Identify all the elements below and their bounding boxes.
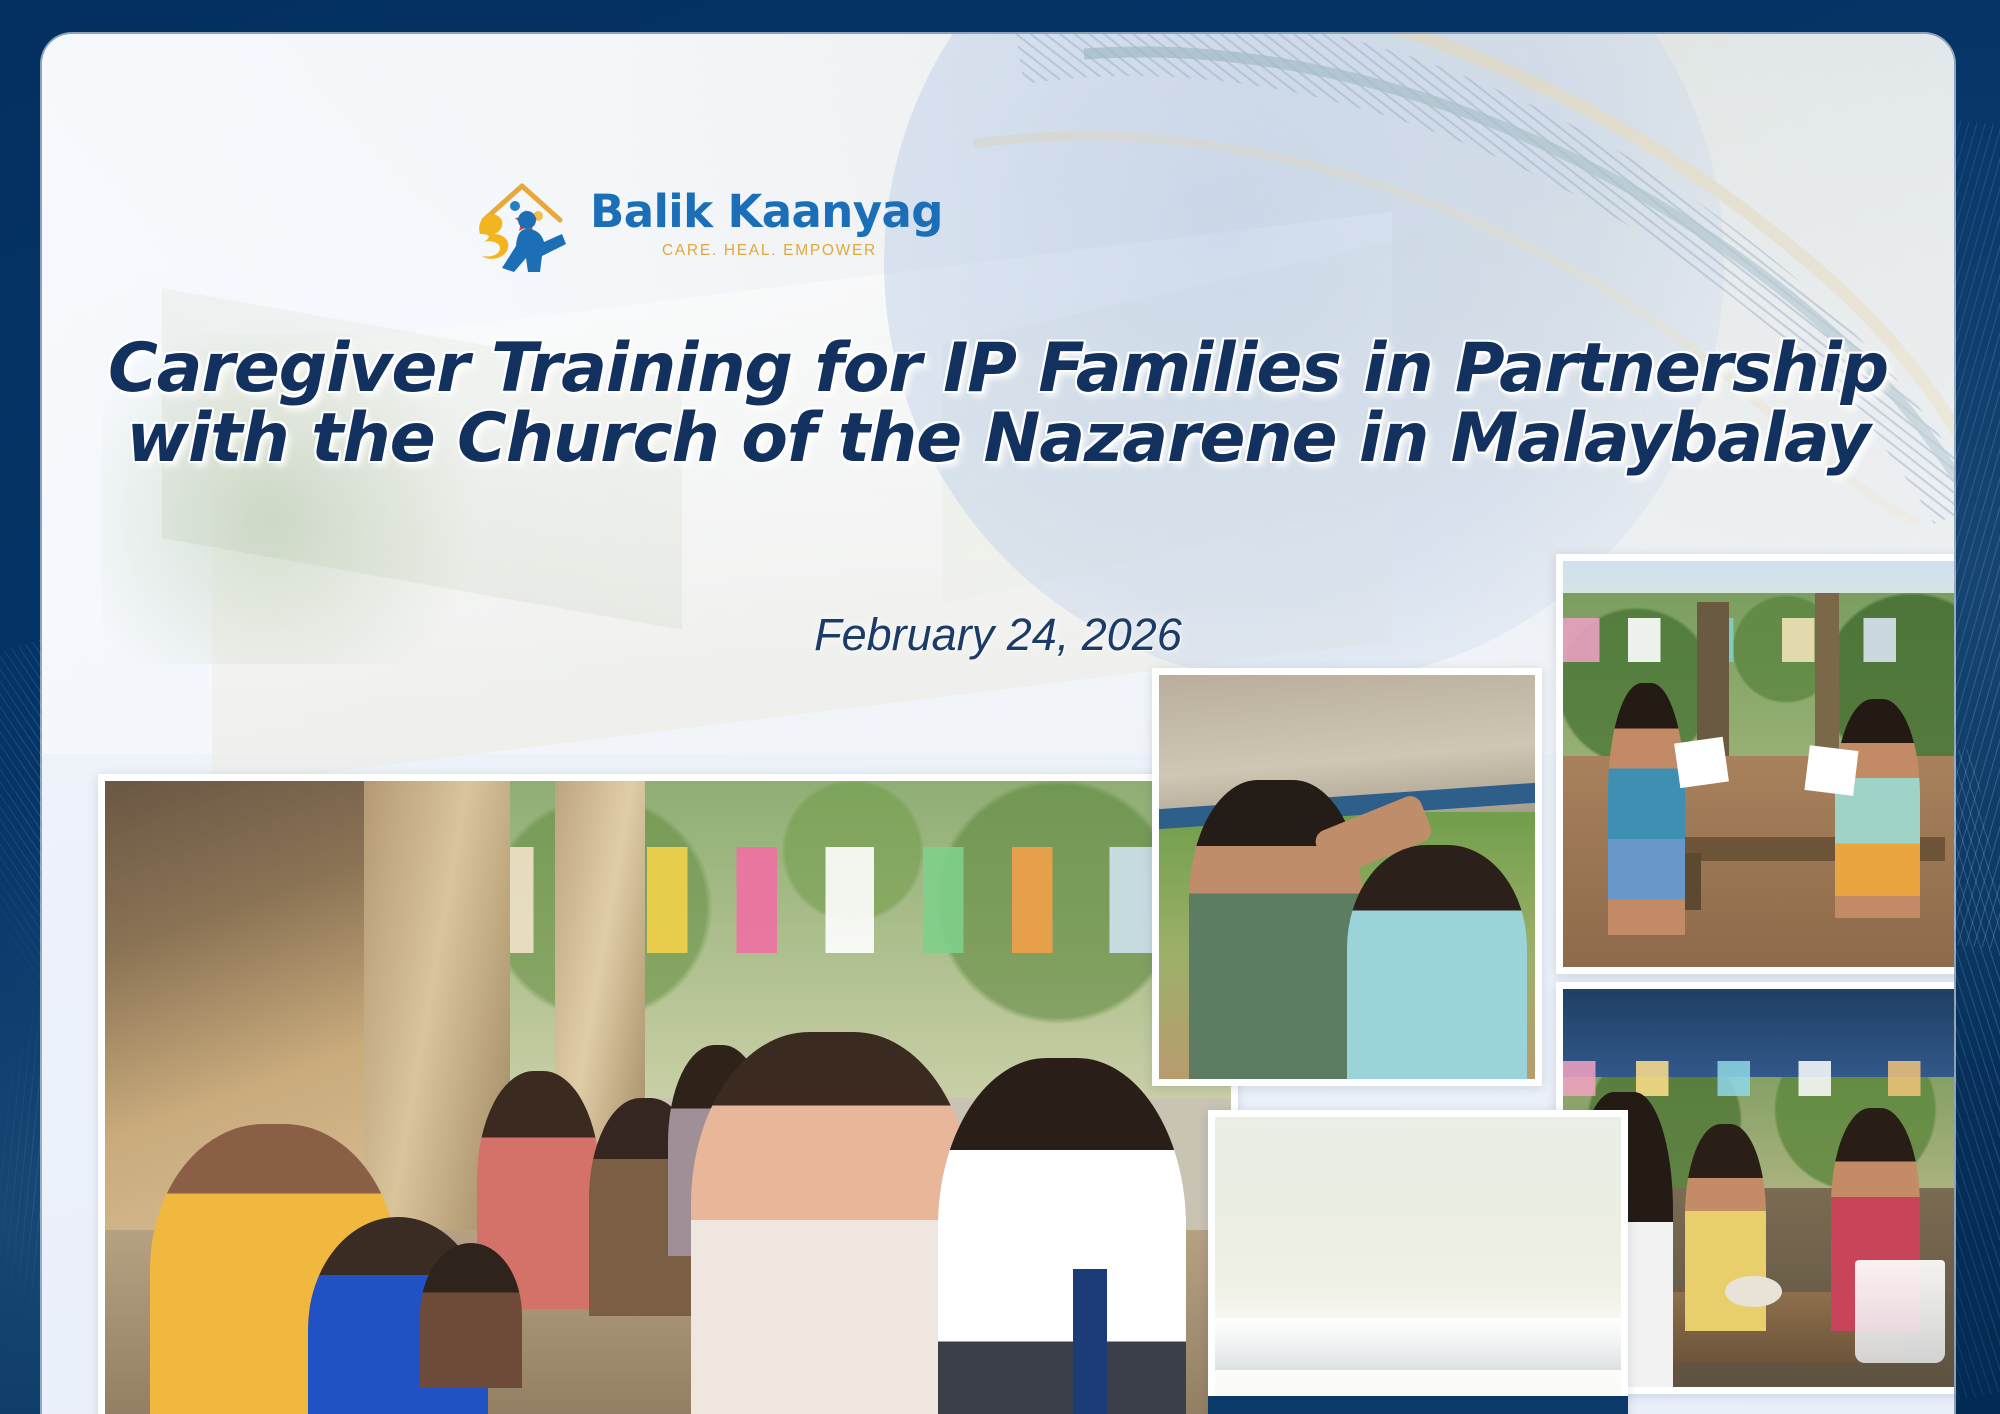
photo-content [1563,561,1954,967]
photo-faded-grass-field [1208,1110,1628,1414]
brand-logo-text: Balik Kaanyag CARE. HEAL. EMPOWER [590,189,943,259]
photo-content [1215,1117,1621,1414]
photo-anointing-under-tarp [1152,668,1542,1086]
photo-content [1159,675,1535,1079]
photo-content [105,781,1231,1414]
brand-logo: Balik Kaanyag CARE. HEAL. EMPOWER [470,176,943,272]
bottom-navy-sliver [1208,1396,1628,1414]
brand-tagline: CARE. HEAL. EMPOWER [662,243,943,259]
photo-group-family-selfie [98,774,1238,1414]
poster-canvas: Balik Kaanyag CARE. HEAL. EMPOWER Caregi… [0,0,2000,1414]
poster-title: Caregiver Training for IP Families in Pa… [42,334,1954,474]
house-person-star-logo-icon [470,176,574,272]
brand-name: Balik Kaanyag [590,189,943,234]
poster-card: Balik Kaanyag CARE. HEAL. EMPOWER Caregi… [42,34,1954,1414]
photo-two-women-reading-outdoors [1556,554,1954,974]
